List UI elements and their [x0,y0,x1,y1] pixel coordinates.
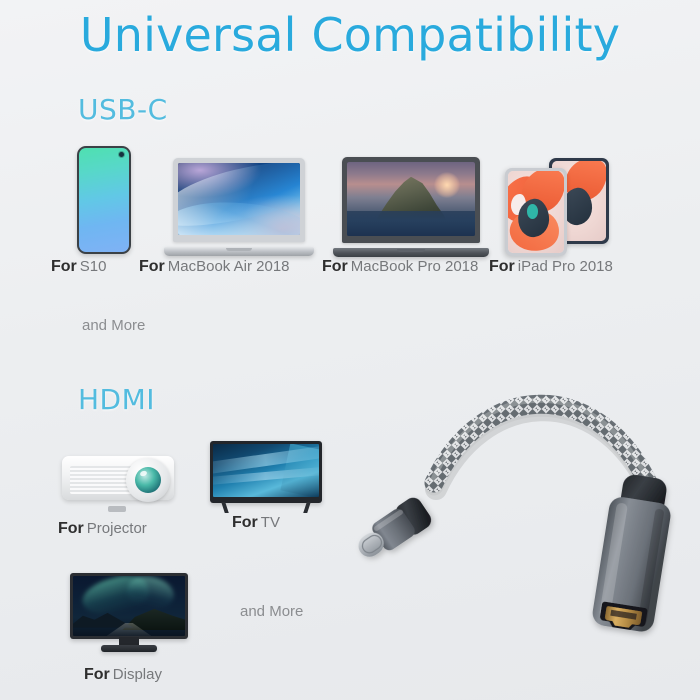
monitor-icon [70,573,188,655]
monitor-screen [73,576,185,636]
projector-body [62,456,174,500]
tablet-front [505,168,567,256]
projector-lens [135,467,161,493]
section-heading-hdmi: HDMI [78,383,155,416]
caption-prefix: For [139,258,165,275]
camera-punch-hole-icon [119,152,124,157]
caption-device-name: MacBook Pro 2018 [351,258,479,275]
caption-macbook-air: ForMacBook Air 2018 [139,259,290,275]
and-more-usbc: and More [82,317,145,334]
caption-prefix: For [51,258,77,275]
caption-prefix: For [322,258,348,275]
caption-device-name: MacBook Air 2018 [168,258,290,275]
tv-leg-left [221,502,229,513]
caption-device-name: iPad Pro 2018 [518,258,613,275]
wallpaper-layer [527,204,538,219]
caption-s10: ForS10 [51,259,106,275]
laptop-screen [347,162,475,236]
caption-ipad-pro: ForiPad Pro 2018 [489,259,613,275]
television-icon [210,441,322,513]
smartphone-icon [77,146,131,254]
adapter-illustration [330,355,690,655]
caption-prefix: For [58,520,84,537]
tablet-pair-icon [505,158,609,256]
laptop-notch [226,248,252,251]
wallpaper-layer [434,172,460,198]
projector-vents [70,466,132,494]
projector-lens-ring [126,458,170,502]
section-heading-usbc: USB-C [78,93,168,126]
hdmi-connector [591,472,676,634]
caption-prefix: For [489,258,515,275]
laptop-lid [173,158,305,242]
caption-device-name: Projector [87,520,147,537]
caption-prefix: For [232,514,258,531]
monitor-stand [101,645,157,652]
laptop-silver-icon [164,158,314,256]
phone-screen [79,148,129,252]
laptop-spacegray-icon [333,157,489,257]
monitor-frame [70,573,188,639]
caption-projector: ForProjector [58,521,147,537]
caption-device-name: TV [261,514,280,531]
caption-tv: ForTV [232,515,280,531]
usb-c-to-hdmi-adapter [330,355,690,655]
caption-macbook-pro: ForMacBook Pro 2018 [322,259,478,275]
tv-screen [213,444,319,497]
tv-frame [210,441,322,503]
caption-prefix: For [84,666,110,683]
page-title: Universal Compatibility [0,8,700,62]
caption-display: ForDisplay [84,667,162,683]
usb-c-connector [351,494,435,566]
caption-device-name: S10 [80,258,107,275]
laptop-lid [342,157,480,243]
caption-device-name: Display [113,666,162,683]
infographic-canvas: Universal Compatibility USB-C [0,0,700,700]
laptop-screen [178,163,300,235]
projector-foot [108,506,126,512]
and-more-hdmi: and More [240,603,303,620]
tv-leg-right [303,502,311,513]
laptop-notch [397,249,425,252]
tablet-screen [508,171,564,253]
projector-icon [62,452,180,510]
wallpaper-layer [347,211,475,236]
